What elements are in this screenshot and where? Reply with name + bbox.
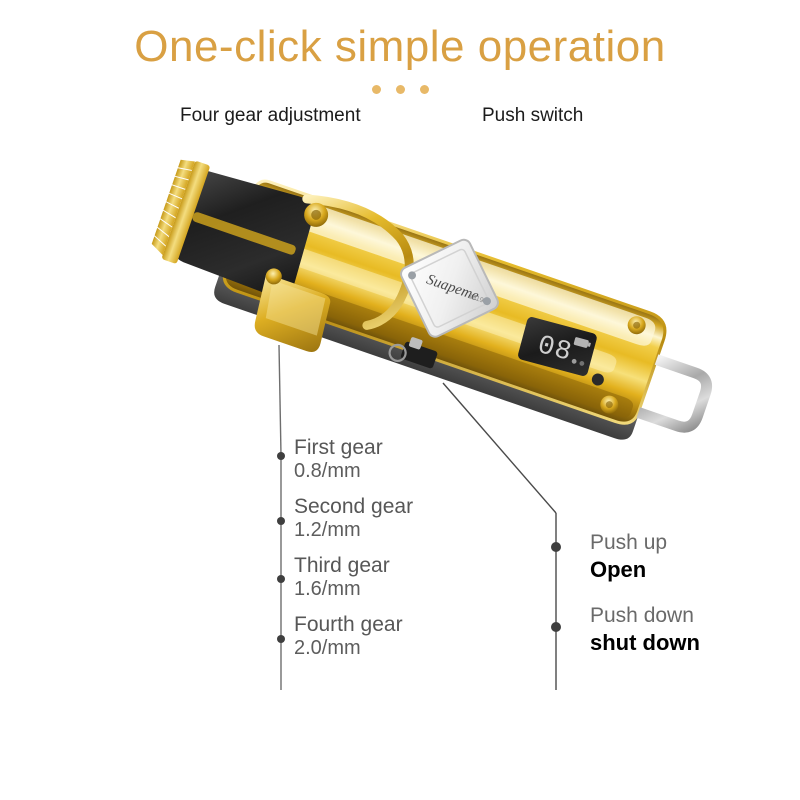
gear-value: 0.8/mm xyxy=(294,460,494,482)
decorative-dots xyxy=(0,85,800,94)
switch-item: Push down shut down xyxy=(590,603,780,658)
dot-2 xyxy=(396,85,405,94)
switch-action: Push up xyxy=(590,530,780,556)
switch-bullet-1 xyxy=(551,542,561,552)
gear-name: First gear xyxy=(294,437,494,460)
gear-name: Third gear xyxy=(294,555,494,578)
switch-bullet-2 xyxy=(551,622,561,632)
switch-item: Push up Open xyxy=(590,530,780,585)
product-infographic: One-click simple operation Four gear adj… xyxy=(0,0,800,800)
gear-bullet-3 xyxy=(277,575,285,583)
switch-state: Open xyxy=(590,556,780,585)
caption-push-switch: Push switch xyxy=(482,105,583,127)
switch-state: shut down xyxy=(590,629,780,658)
switch-spec-list: Push up Open Push down shut down xyxy=(590,530,780,676)
caption-four-gear-adjustment: Four gear adjustment xyxy=(180,105,361,127)
gear-item: First gear 0.8/mm xyxy=(294,437,494,482)
gear-item: Second gear 1.2/mm xyxy=(294,496,494,541)
gear-name: Second gear xyxy=(294,496,494,519)
gear-value: 2.0/mm xyxy=(294,637,494,659)
gear-bullet-4 xyxy=(277,635,285,643)
dot-3 xyxy=(420,85,429,94)
gear-spec-list: First gear 0.8/mm Second gear 1.2/mm Thi… xyxy=(294,437,494,673)
gear-item: Third gear 1.6/mm xyxy=(294,555,494,600)
dot-1 xyxy=(372,85,381,94)
gear-name: Fourth gear xyxy=(294,614,494,637)
gear-item: Fourth gear 2.0/mm xyxy=(294,614,494,659)
gear-value: 1.6/mm xyxy=(294,578,494,600)
gear-value: 1.2/mm xyxy=(294,519,494,541)
switch-action: Push down xyxy=(590,603,780,629)
page-title: One-click simple operation xyxy=(0,22,800,72)
gear-bullet-2 xyxy=(277,517,285,525)
